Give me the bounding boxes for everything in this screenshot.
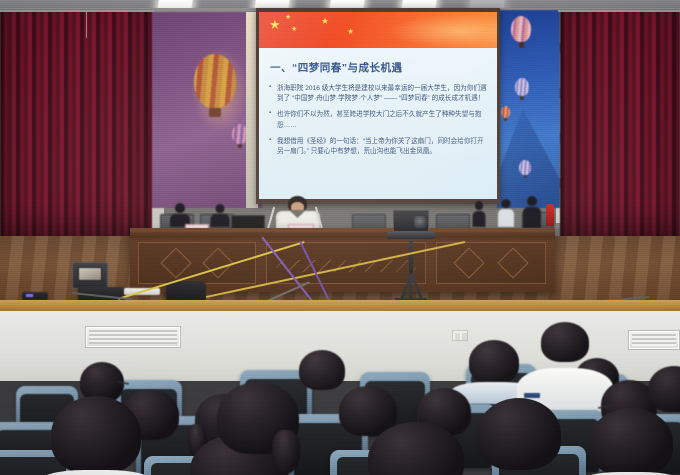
seated-official xyxy=(210,204,229,227)
audience-member xyxy=(588,408,674,475)
presentation-slide: ★ ★ ★ ★ ★ 一、“四梦同春”与成长机遇 浙海职院 2016 级大学生将是… xyxy=(259,12,497,199)
projection-screen: ★ ★ ★ ★ ★ 一、“四梦同春”与成长机遇 浙海职院 2016 级大学生将是… xyxy=(256,8,500,204)
audience-member-uniformed xyxy=(538,322,592,372)
hot-air-balloon-icon xyxy=(515,78,529,96)
hot-air-balloon-icon xyxy=(511,16,531,42)
camera-lens-icon xyxy=(414,216,428,228)
tripod-head-plate xyxy=(387,232,435,239)
slide-bullet-list: 浙海职院 2016 级大学生将是建校以来最幸运的一届大学生，因为你们遇到了 “中… xyxy=(268,84,488,157)
curtain-rod xyxy=(558,10,680,12)
panel-diamond-motif xyxy=(161,247,192,278)
audience-member xyxy=(648,366,680,414)
panel-diamond-motif xyxy=(454,247,485,278)
slide-body: 一、“四梦同春”与成长机遇 浙海职院 2016 级大学生将是建校以来最幸运的一届… xyxy=(259,48,497,199)
curtain-rod xyxy=(0,10,154,12)
standing-official xyxy=(523,196,541,228)
ponytail xyxy=(272,430,300,474)
flag-star-icon: ★ xyxy=(285,14,291,21)
audience-member xyxy=(476,398,562,472)
status-led xyxy=(26,294,33,297)
audience-shoulders xyxy=(36,470,156,475)
av-device xyxy=(22,292,48,300)
flag-star-icon: ★ xyxy=(321,17,329,26)
slide-bullet: 浙海职院 2016 级大学生将是建校以来最幸运的一届大学生，因为你们遇到了 “中… xyxy=(268,84,488,104)
tripod-column xyxy=(409,239,413,277)
flag-star-icon: ★ xyxy=(347,28,354,36)
decorative-backdrop-blue xyxy=(497,10,560,208)
audience-member-ponytail xyxy=(216,382,300,456)
flag-star-icon: ★ xyxy=(291,26,297,33)
audience-area xyxy=(0,330,680,475)
stage-av-monitor xyxy=(72,262,108,289)
seated-official xyxy=(498,199,514,227)
seated-official xyxy=(472,201,485,227)
slide-bullet: 也许你们不以为然，甚至跨进学校大门之后不久就产生了种种失望与抱怨…… xyxy=(268,110,488,130)
curtain-hook xyxy=(86,12,87,38)
audience-member xyxy=(50,396,142,475)
monitor-screen xyxy=(78,267,102,281)
audience-member xyxy=(368,422,464,475)
stage-curtain-right xyxy=(560,10,680,248)
rostrum-panel xyxy=(436,242,546,284)
equipment-bag xyxy=(166,281,206,301)
stage-curtain-left xyxy=(0,10,152,248)
flag-star-icon: ★ xyxy=(269,18,281,31)
slide-bullet: 我想借用《圣经》的一句话：“当上帝为你关了这扇门，同时会给你打开另一扇门。” 只… xyxy=(268,137,488,157)
hot-air-balloon-icon xyxy=(519,160,531,175)
panel-diamond-motif xyxy=(497,247,528,278)
hot-air-balloon-icon xyxy=(194,54,236,108)
audience-member xyxy=(468,340,520,386)
camera-body xyxy=(393,210,429,232)
hot-air-balloon-icon xyxy=(501,106,510,118)
flag-banner: ★ ★ ★ ★ ★ xyxy=(259,12,497,48)
slide-title: 一、“四梦同春”与成长机遇 xyxy=(270,60,488,75)
lecture-hall-photo: ★ ★ ★ ★ ★ 一、“四梦同春”与成长机遇 浙海职院 2016 级大学生将是… xyxy=(0,0,680,475)
thermos-flask xyxy=(546,204,554,226)
